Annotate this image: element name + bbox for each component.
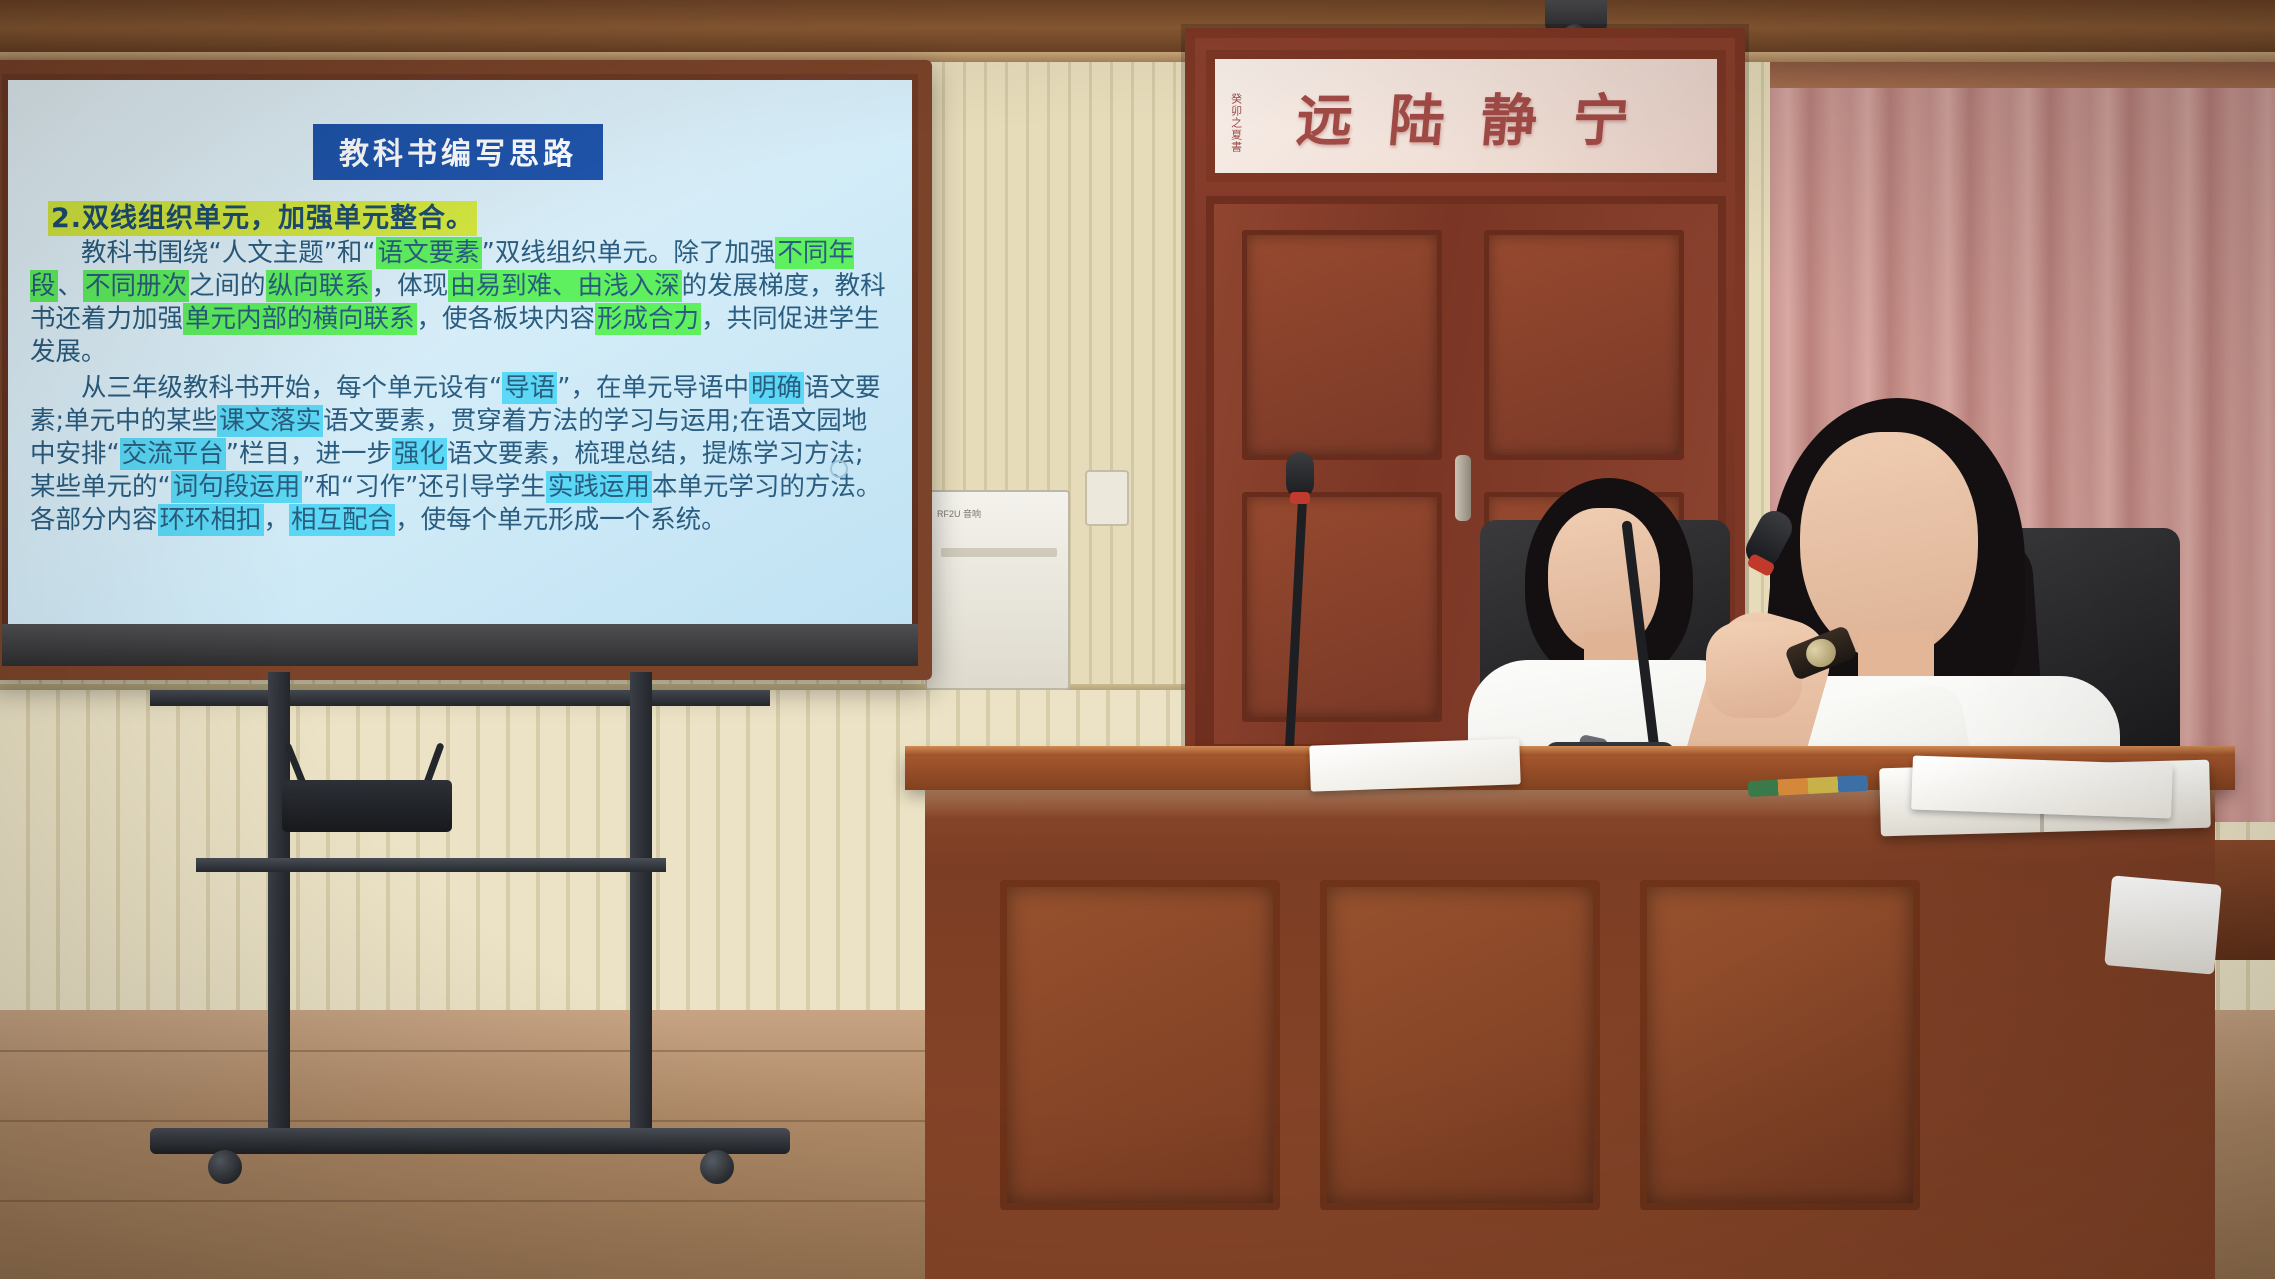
slide-highlight-cyan: 交流平台 [120, 438, 226, 470]
calligraphy-frame: 癸卯之夏書 远 陆 静 宁 [1206, 50, 1726, 182]
slide-highlight-cyan: 相互配合 [289, 504, 395, 536]
slide-paragraph-1: 教科书围绕“人文主题”和“语文要素”双线组织单元。除了加强不同年段、不同册次之间… [30, 237, 886, 370]
calligraphy-char-3: 静 [1477, 76, 1546, 157]
stand-post-right [630, 672, 652, 1152]
slide-text-run: ，体现 [372, 271, 449, 301]
screen-corner-marker [830, 460, 848, 478]
slide-highlight-cyan: 实践运用 [546, 471, 652, 503]
calligraphy-char-2: 陆 [1385, 76, 1454, 157]
wall-control-box-slot [941, 548, 1057, 557]
stand-base [150, 1128, 790, 1154]
slide-body: 教科书围绕“人文主题”和“语文要素”双线组织单元。除了加强不同年段、不同册次之间… [30, 237, 886, 537]
whiteboard-bezel [2, 624, 918, 666]
podium-panel [1000, 880, 1280, 1210]
door-handle[interactable] [1455, 455, 1471, 521]
stand-caster [208, 1150, 242, 1184]
slide-highlight-cyan: 强化 [392, 438, 447, 470]
stand-caster [700, 1150, 734, 1184]
podium-panel [1640, 880, 1920, 1210]
slide-content: 教科书编写思路 2.双线组织单元，加强单元整合。 教科书围绕“人文主题”和“语文… [8, 80, 912, 624]
slide-highlight-green: 不同册次 [83, 270, 189, 302]
calligraphy-char-1: 远 [1293, 76, 1362, 157]
slide-highlight-cyan: 词句段运用 [171, 471, 303, 503]
hand-holding-microphone [1706, 622, 1802, 718]
slide-text-run: 从三年级教科书开始，每个单元设有“ [81, 373, 502, 403]
slide-text-run: ”，在单元导语中 [557, 373, 749, 403]
slide-text-run: 之间的 [189, 271, 266, 301]
slide-text-run: ”双线组织单元。除了加强 [482, 238, 776, 268]
slide-heading: 2.双线组织单元，加强单元整合。 [48, 196, 886, 235]
slide-highlight-green: 语文要素 [376, 237, 482, 269]
wifi-router [282, 780, 452, 832]
slide-highlight-green: 由易到难、由浅入深 [448, 270, 682, 302]
slide-highlight-cyan: 课文落实 [217, 405, 323, 437]
slide-highlight-cyan: 导语 [502, 372, 557, 404]
podium-edge-trim [905, 746, 2235, 756]
slide-text-run: 教科书围绕“人文主题”和“ [81, 238, 376, 268]
calligraphy-artwork: 癸卯之夏書 远 陆 静 宁 [1215, 59, 1717, 173]
slide-paragraph-2: 从三年级教科书开始，每个单元设有“导语”，在单元导语中明确语文要素;单元中的某些… [30, 372, 886, 538]
calligraphy-seal-text: 癸卯之夏書 [1229, 93, 1242, 153]
wall-control-box[interactable]: RF2U 音响 [925, 490, 1070, 690]
wall-control-box-label: RF2U 音响 [937, 508, 981, 522]
podium-panel [1320, 880, 1600, 1210]
slide-text-run: ”和“习作”还引导学生 [302, 472, 546, 502]
paper-stack[interactable] [1309, 738, 1520, 791]
door-panel [1242, 230, 1442, 460]
slide-text-run: ，使各板块内容 [417, 304, 596, 334]
calligraphy-char-4: 宁 [1569, 76, 1638, 157]
slide-title-container: 教科书编写思路 [30, 124, 886, 180]
tissue-box [2104, 875, 2221, 974]
slide-text-run: ， [264, 505, 290, 535]
stand-shelf [196, 858, 666, 872]
microphone-indicator-ring [1290, 492, 1310, 504]
slide-highlight-green: 纵向联系 [266, 270, 372, 302]
face [1800, 432, 1978, 660]
curtain-rail [1770, 62, 2275, 88]
slide-text-run: ，使每个单元形成一个系统。 [395, 505, 727, 535]
slide-highlight-green: 单元内部的横向联系 [183, 303, 417, 335]
door-panel [1484, 230, 1684, 460]
slide-heading-text: 2.双线组织单元，加强单元整合。 [48, 201, 477, 236]
door-panel [1242, 492, 1442, 722]
slide-highlight-cyan: 环环相扣 [158, 504, 264, 536]
slide-text-run: 、 [58, 271, 84, 301]
conference-room-scene: 癸卯之夏書 远 陆 静 宁 RF2U 音响 教科书编写思路 2.双线组织单元，加… [0, 0, 2275, 1279]
interactive-whiteboard[interactable]: 教科书编写思路 2.双线组织单元，加强单元整合。 教科书围绕“人文主题”和“语文… [0, 60, 932, 680]
slide-highlight-cyan: 明确 [749, 372, 804, 404]
wall-socket[interactable] [1085, 470, 1129, 526]
slide-title: 教科书编写思路 [313, 124, 603, 180]
slide-text-run: ”栏目，进一步 [226, 439, 392, 469]
stand-crossbar [150, 690, 770, 706]
paper-stack[interactable] [1911, 755, 2173, 818]
projection-screen[interactable]: 教科书编写思路 2.双线组织单元，加强单元整合。 教科书围绕“人文主题”和“语文… [8, 80, 912, 624]
slide-highlight-green: 形成合力 [595, 303, 701, 335]
